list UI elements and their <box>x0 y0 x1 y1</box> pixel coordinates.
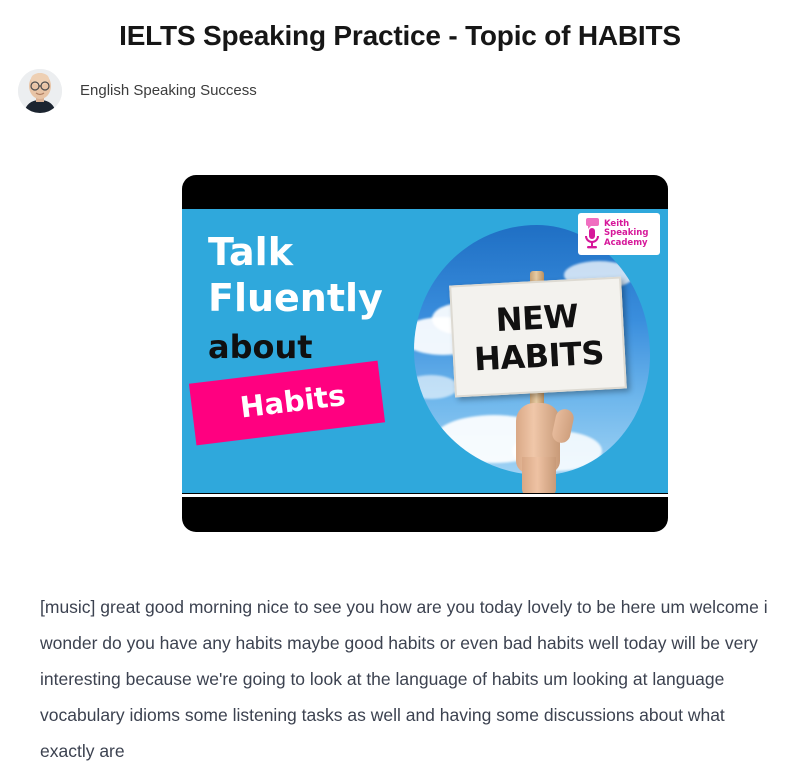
microphone-icon <box>582 217 602 251</box>
placard-line1: NEW <box>495 300 579 336</box>
thumbnail-frame[interactable]: Talk Fluently about Habits NEW HABITS <box>182 175 668 532</box>
thumbnail-headline-line2: Fluently <box>208 279 383 317</box>
brand-logo: Keith Speaking Academy <box>578 213 660 255</box>
channel-row: English Speaking Success <box>18 69 800 113</box>
protest-placard: NEW HABITS <box>449 277 627 398</box>
brand-line3: Academy <box>604 239 648 249</box>
thumbnail-headline-line3: about <box>208 331 313 363</box>
thumbnail-content: Talk Fluently about Habits NEW HABITS <box>182 209 668 493</box>
avatar[interactable] <box>18 69 62 113</box>
video-thumbnail[interactable]: Talk Fluently about Habits NEW HABITS <box>182 175 668 532</box>
placard-line2: HABITS <box>473 337 604 376</box>
channel-name[interactable]: English Speaking Success <box>80 82 257 99</box>
cloud-icon <box>414 375 458 399</box>
page-title: IELTS Speaking Practice - Topic of HABIT… <box>0 19 800 53</box>
thumbnail-seam <box>182 494 668 497</box>
brand-text: Keith Speaking Academy <box>604 220 648 249</box>
thumbnail-banner-word: Habits <box>238 378 347 425</box>
wrist-icon <box>522 457 556 493</box>
transcript-text: [music] great good morning nice to see y… <box>40 589 775 769</box>
thumbnail-pink-banner: Habits <box>189 361 385 446</box>
thumbnail-headline-line1: Talk <box>208 233 293 271</box>
